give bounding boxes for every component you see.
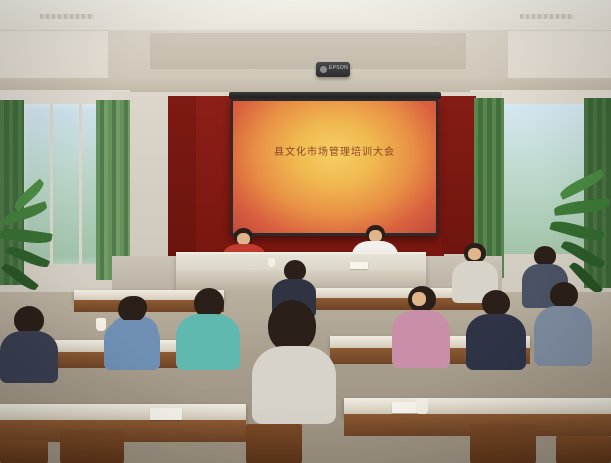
projector-brand-label: EPSON	[329, 65, 348, 71]
chair-front-far-right	[556, 436, 611, 463]
chair-front-center	[246, 424, 302, 463]
wall-accent-right	[442, 96, 476, 254]
attendee-row2-3	[176, 288, 240, 364]
meeting-room-photo: EPSON 县文化市场管理培训大会	[0, 0, 611, 463]
screen-title-text: 县文化市场管理培训大会	[233, 143, 436, 158]
chair-front-far-left	[0, 440, 48, 463]
desk-paper-1	[150, 408, 182, 420]
ceiling-recess-inner	[150, 33, 466, 69]
attendee-row2-2	[104, 296, 160, 366]
attendee-row2-5	[466, 290, 526, 366]
attendee-row2-1	[0, 306, 58, 378]
projector-lens-icon	[320, 66, 327, 73]
chair-front-right	[470, 424, 536, 463]
projection-screen-surface: 县文化市场管理培训大会	[233, 101, 436, 233]
attendee-row1-center	[252, 300, 336, 418]
curtain-left	[96, 100, 130, 280]
attendee-row2-6	[534, 282, 592, 362]
chair-front-left	[60, 430, 124, 463]
ceiling-vent-left	[40, 14, 94, 19]
ceiling-vent-right	[520, 14, 574, 19]
projection-screen: 县文化市场管理培训大会	[231, 98, 438, 236]
desk-cup-2	[96, 318, 106, 331]
desk-cup-1	[416, 398, 428, 414]
wall-accent-left	[168, 96, 198, 256]
projector-icon: EPSON	[316, 62, 350, 77]
attendee-row2-4	[392, 286, 450, 364]
head-table-paper	[350, 262, 368, 269]
